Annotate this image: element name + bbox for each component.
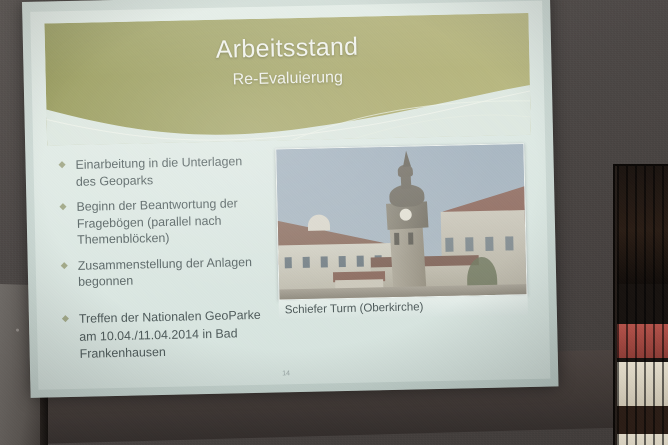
presentation-slide: Arbeitsstand Re-Evaluierung Einarbeitung… [30,1,550,390]
bullet-text: Treffen der Nationalen GeoParke am 10.04… [79,308,261,361]
bullet-text: Beginn der Beantwortung der Fragebögen (… [76,196,237,247]
diamond-bullet-icon [59,161,66,168]
diamond-bullet-icon [61,262,68,269]
bullet-text: Zusammenstellung der Anlagen begonnen [78,255,253,289]
photo-haze-overlay [276,144,526,299]
bullet-item: Einarbeitung in die Unterlagen des Geopa… [55,153,264,191]
slide-bullet-list-lower: Treffen der Nationalen GeoParke am 10.04… [59,307,270,364]
slide-bullet-list: Einarbeitung in die Unterlagen des Geopa… [55,153,266,300]
slide-page-number: 14 [282,370,290,377]
diamond-bullet-icon [62,315,69,322]
slide-header-band: Arbeitsstand Re-Evaluierung [44,13,531,146]
panel-screw-dot [16,329,19,332]
projection-screen: Arbeitsstand Re-Evaluierung Einarbeitung… [22,0,559,398]
bullet-item: Beginn der Beantwortung der Fragebögen (… [56,195,265,249]
bullet-item: Treffen der Nationalen GeoParke am 10.04… [59,307,270,364]
bullet-text: Einarbeitung in die Unterlagen des Geopa… [75,154,242,188]
photo-caption: Schiefer Turm (Oberkirche) [279,295,528,320]
doorway-stripes [617,166,668,445]
diamond-bullet-icon [59,203,66,210]
room-photo-scene: Arbeitsstand Re-Evaluierung Einarbeitung… [0,0,668,445]
bullet-item: Zusammenstellung der Anlagen begonnen [58,253,267,291]
doorway-opening [615,166,668,445]
projection-screen-wrapper: Arbeitsstand Re-Evaluierung Einarbeitung… [22,0,559,398]
slide-photo [275,143,527,300]
